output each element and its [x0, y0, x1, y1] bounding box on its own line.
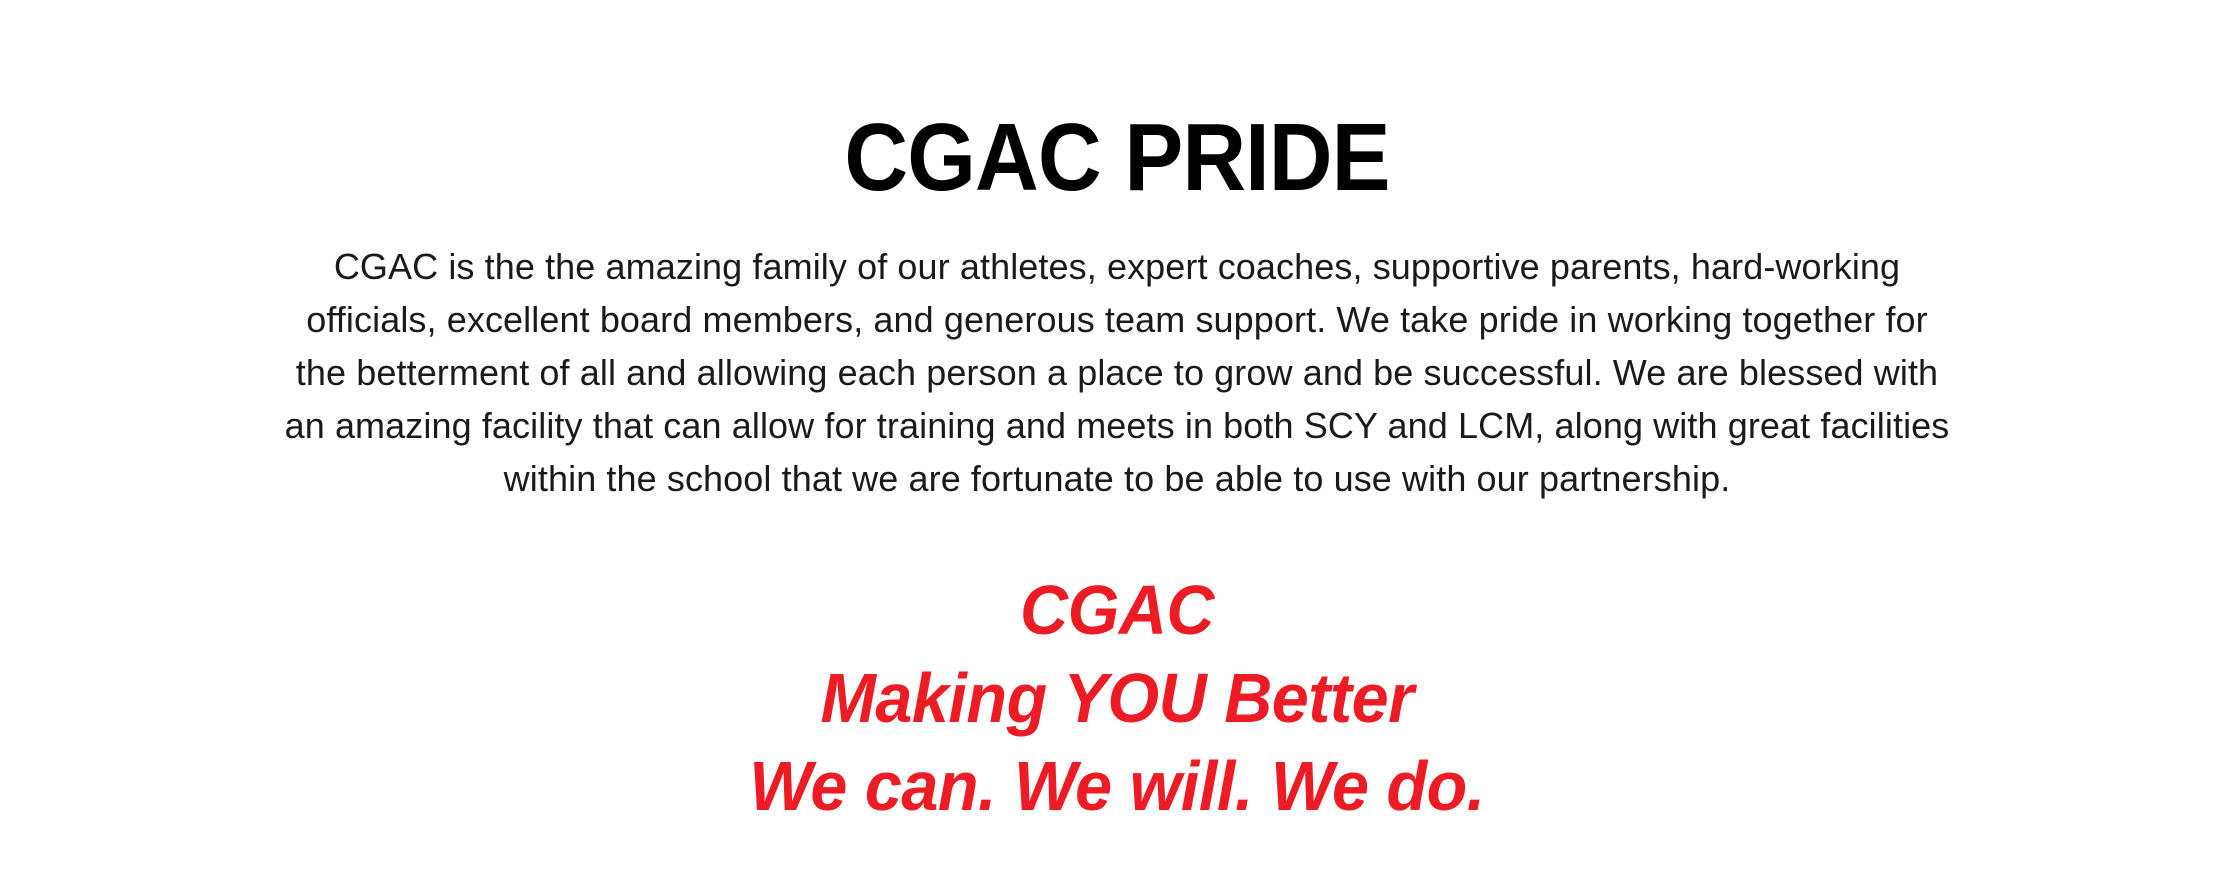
slogan-line-motto: Making YOU Better [56, 654, 2178, 742]
description-line: officials, excellent board members, and … [0, 293, 2234, 346]
pride-description: CGAC is the the amazing family of our at… [0, 240, 2234, 505]
description-line: the betterment of all and allowing each … [0, 346, 2234, 399]
pride-slogan: CGAC Making YOU Better We can. We will. … [0, 566, 2234, 830]
description-line: CGAC is the the amazing family of our at… [0, 240, 2234, 293]
page-title: CGAC PRIDE [89, 108, 2144, 209]
pride-page: CGAC PRIDE CGAC is the the amazing famil… [0, 0, 2234, 894]
slogan-line-brand: CGAC [56, 566, 2178, 654]
description-line: within the school that we are fortunate … [0, 452, 2234, 505]
description-line: an amazing facility that can allow for t… [0, 399, 2234, 452]
slogan-line-creed: We can. We will. We do. [56, 742, 2178, 830]
